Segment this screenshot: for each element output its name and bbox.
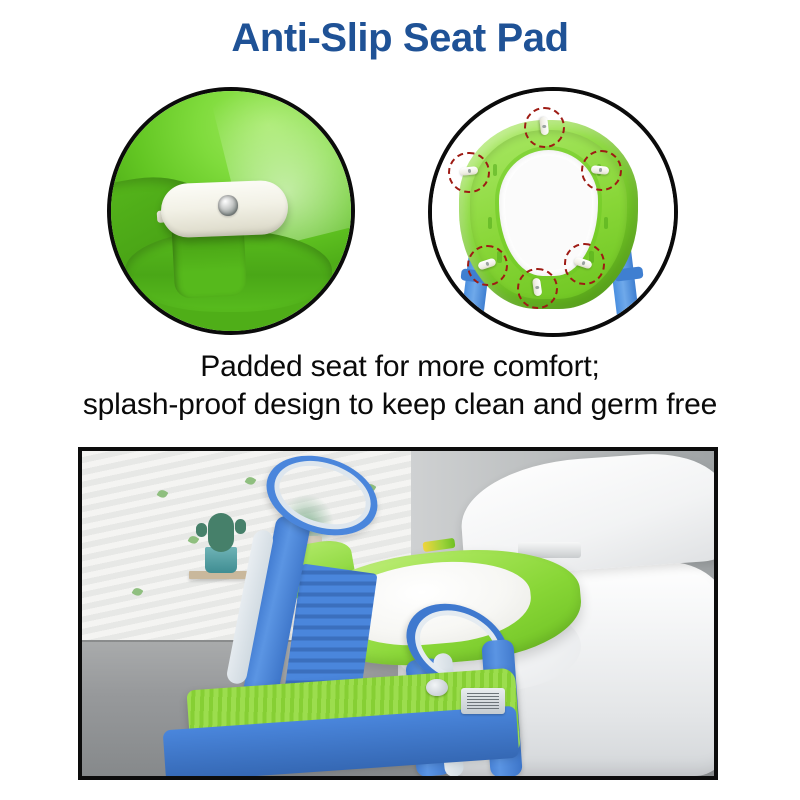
highlight-ring-dashed [467,245,508,286]
highlight-ring-dashed [448,152,489,193]
cactus-plant-icon [208,513,233,552]
cactus-arm [235,519,246,534]
product-lifestyle-photo [78,447,718,780]
inset-right-image [432,91,674,333]
pad-screw-icon [218,195,238,215]
caption-line-2: splash-proof design to keep clean and ge… [0,386,800,424]
page-title: Anti-Slip Seat Pad [0,16,800,60]
highlight-ring-dashed [517,268,558,309]
brand-badge [461,688,505,714]
caption-line-1: Padded seat for more comfort; [0,348,800,386]
cactus-arm [196,523,207,538]
seat-rib [493,164,497,176]
inset-left-image [111,91,351,331]
inset-photo-anti-slip-pad-closeup [107,87,355,335]
inset-photo-seat-underside-pads [428,87,678,337]
seat-rib [604,217,608,229]
caption-block: Padded seat for more comfort; splash-pro… [0,348,800,425]
highlight-ring-dashed [564,243,605,284]
highlight-ring-dashed [524,107,565,148]
handle-pivot-screw-icon [426,679,447,697]
seat-rib [488,217,492,229]
